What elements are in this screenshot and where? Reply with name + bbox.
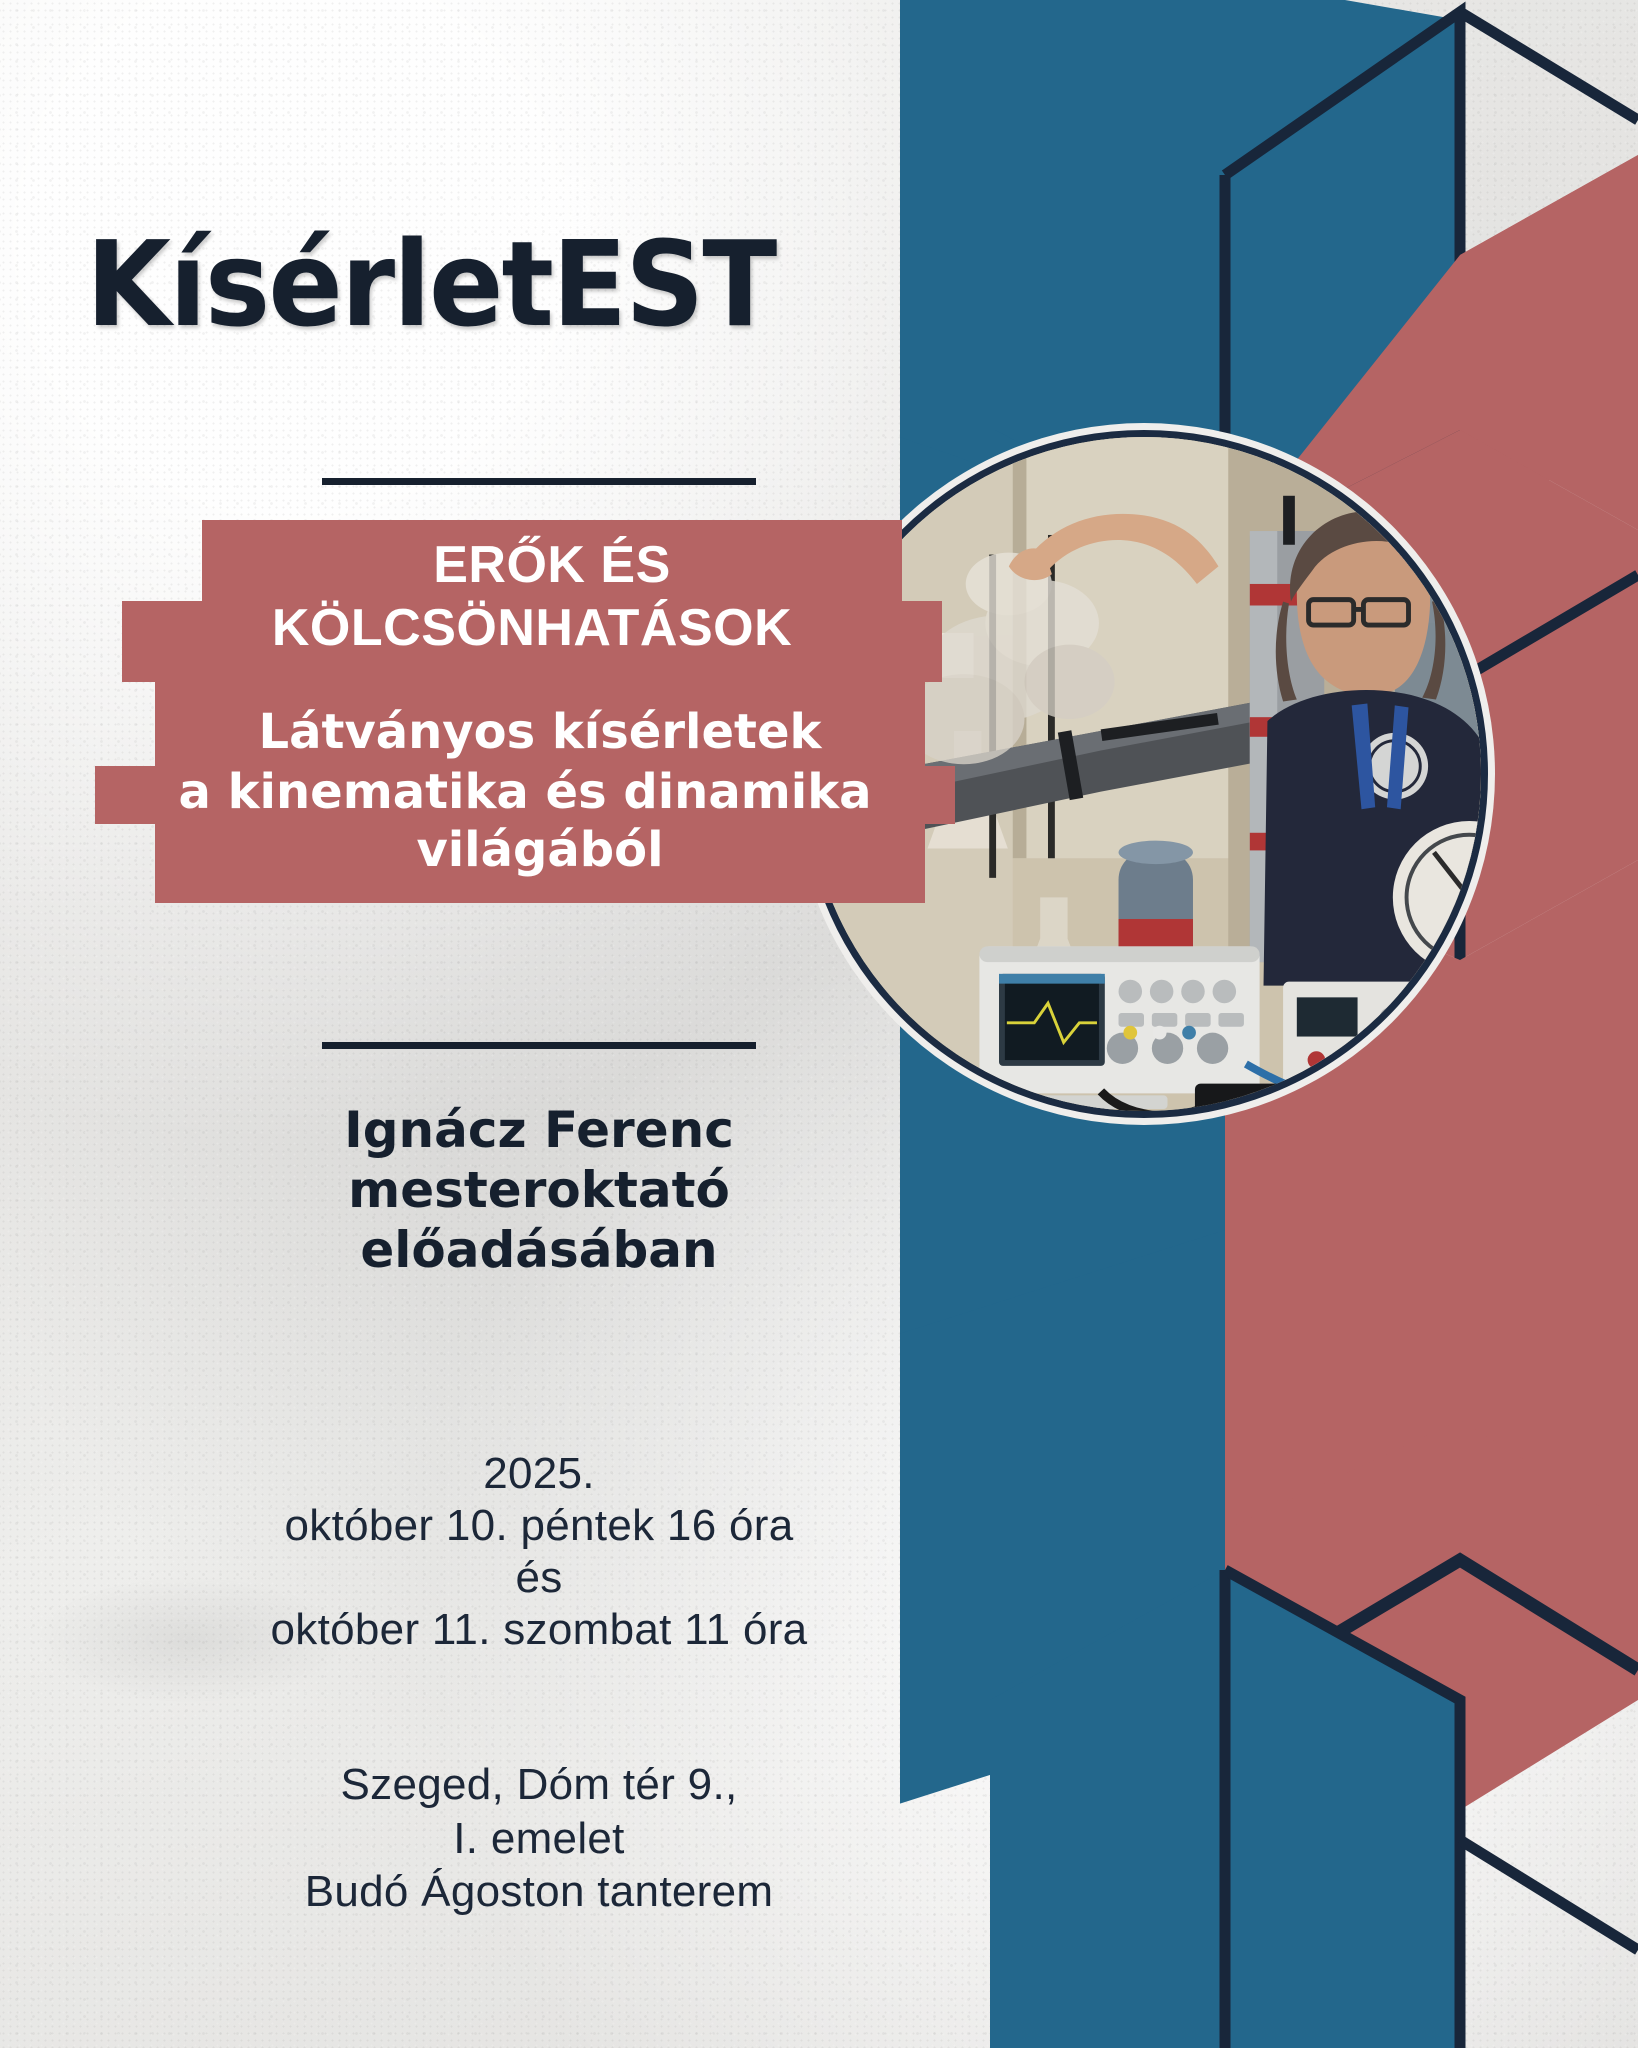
venue-block: Szeged, Dóm tér 9., I. emelet Budó Ágost…	[86, 1758, 992, 1919]
cube-outline-top-right-edge	[1460, 12, 1638, 120]
headline-banner: ERŐK ÉS KÖLCSÖNHATÁSOK Látványos kísérle…	[0, 520, 960, 903]
divider-top	[322, 478, 756, 485]
headline-line-2: KÖLCSÖNHATÁSOK	[122, 601, 942, 682]
date-block: 2025. október 10. péntek 16 óra és októb…	[86, 1448, 992, 1656]
headline-line-1: ERŐK ÉS	[202, 520, 902, 601]
venue-room: Budó Ágoston tanterem	[86, 1865, 992, 1919]
presenter-suffix: előadásában	[86, 1220, 992, 1280]
date-year: 2025.	[86, 1448, 992, 1500]
presenter-name: Ignácz Ferenc	[86, 1100, 992, 1160]
divider-bottom	[322, 1042, 756, 1049]
venue-floor: I. emelet	[86, 1812, 992, 1866]
presenter-role: mesteroktató	[86, 1160, 992, 1220]
subtitle-line-2: a kinematika és dinamika	[95, 766, 955, 824]
subtitle-line-1: Látványos kísérletek	[155, 682, 925, 766]
venue-address: Szeged, Dóm tér 9.,	[86, 1758, 992, 1812]
presenter-block: Ignácz Ferenc mesteroktató előadásában	[86, 1100, 992, 1280]
date-second: október 11. szombat 11 óra	[86, 1604, 992, 1656]
poster-canvas: KísérletEST ERŐK ÉS KÖLCSÖNHATÁSOK Látvá…	[0, 0, 1638, 2048]
date-conjunction: és	[86, 1552, 992, 1604]
subtitle-line-3: világából	[155, 824, 925, 904]
date-first: október 10. péntek 16 óra	[86, 1500, 992, 1552]
page-title: KísérletEST	[86, 228, 886, 340]
